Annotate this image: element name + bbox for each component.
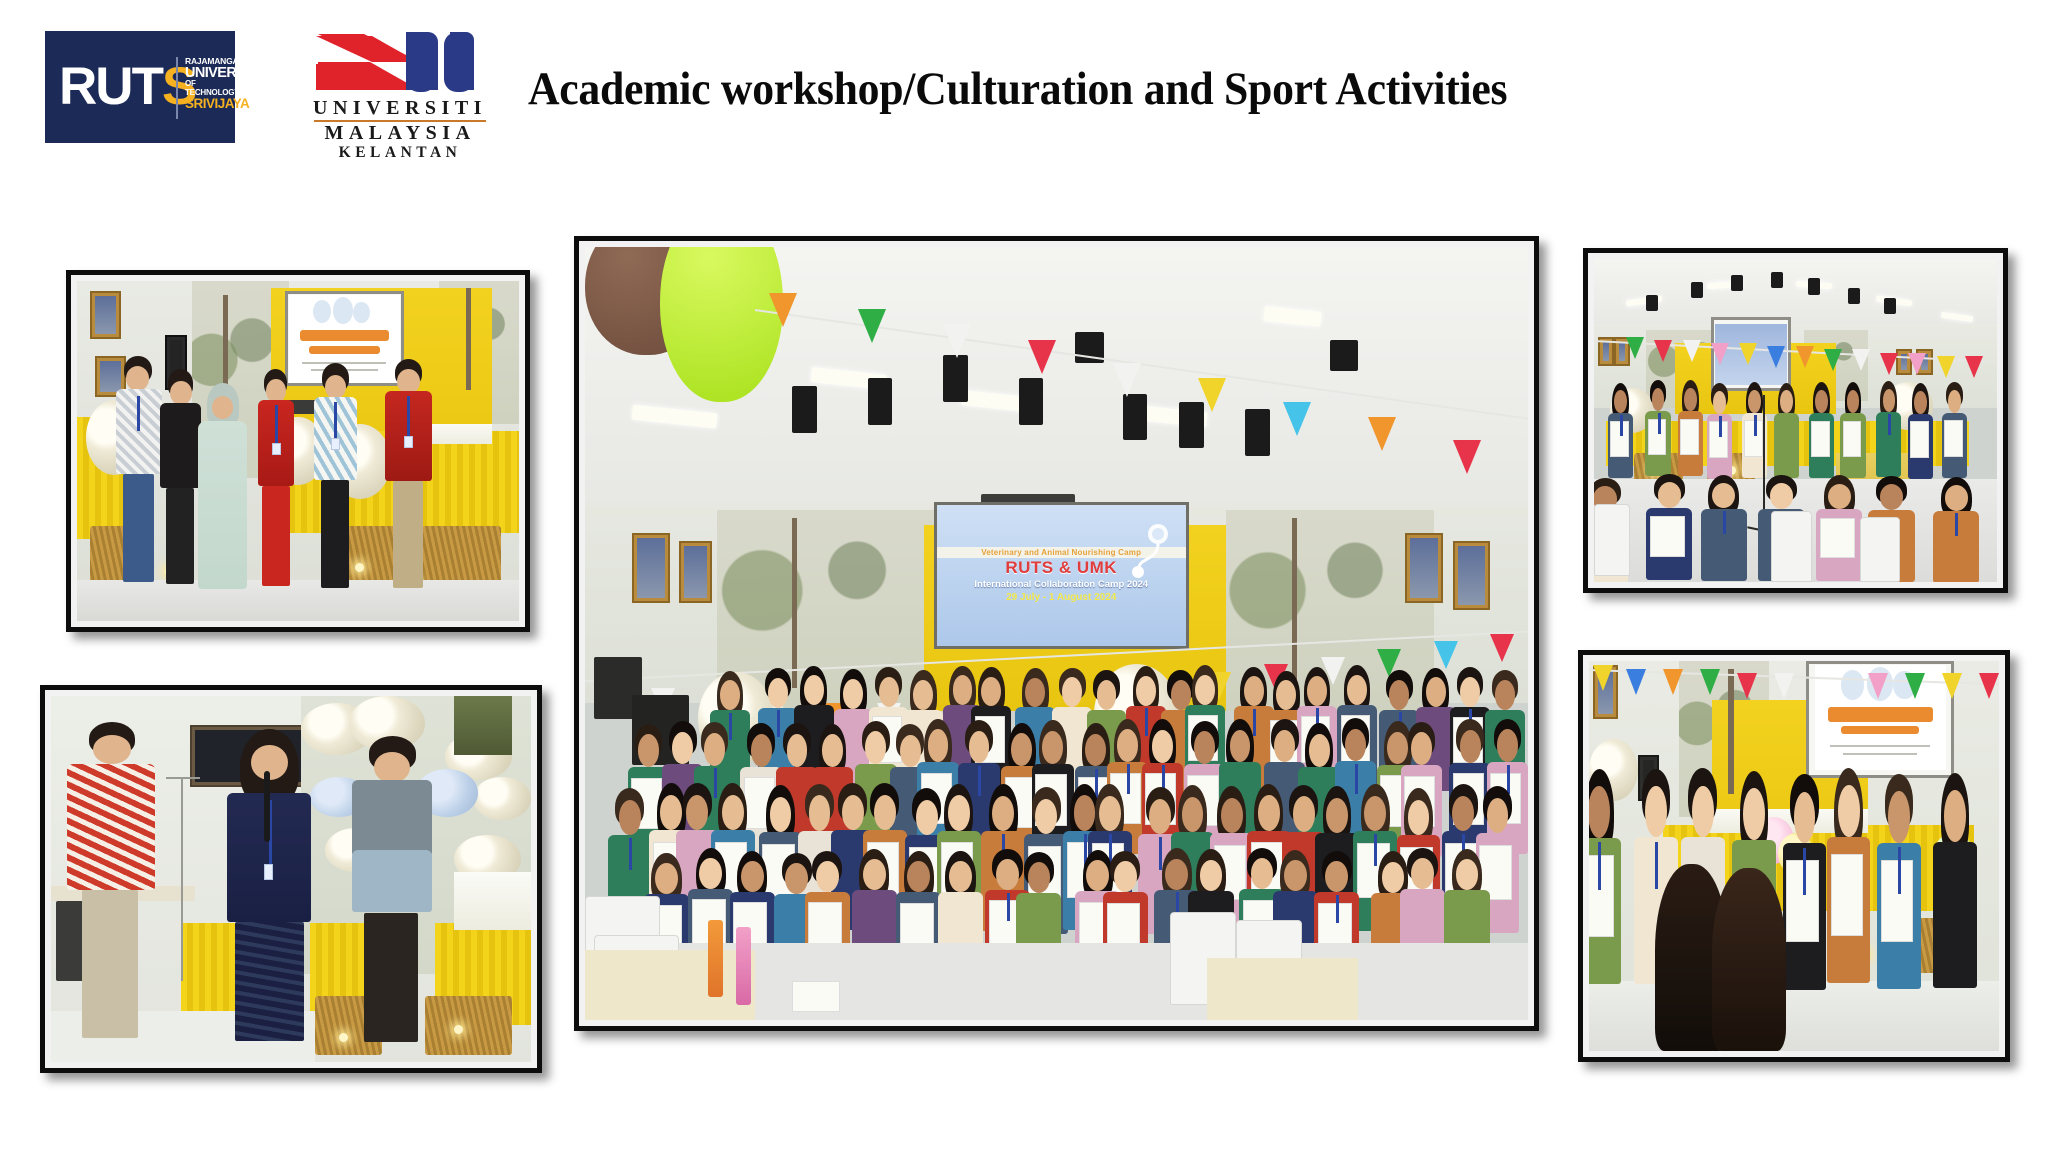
- crowd-head: [1652, 388, 1665, 411]
- crowd-head: [1408, 800, 1430, 835]
- stethoscope-icon: [1125, 522, 1171, 582]
- ruts-letters-ru: RU: [59, 57, 132, 116]
- crowd-head: [865, 731, 886, 763]
- crowd-lanyard: [1955, 513, 1958, 536]
- crowd-head: [1684, 388, 1697, 411]
- crowd-head: [722, 795, 744, 830]
- crowd-head: [1345, 729, 1366, 761]
- certificate-paper: [1831, 854, 1863, 936]
- crowd-head: [804, 675, 824, 705]
- crowd-head: [916, 800, 938, 835]
- banner-line2: RUTS & UMK: [1005, 558, 1117, 578]
- crowd-head: [1097, 680, 1117, 710]
- crowd-head: [1460, 730, 1481, 762]
- crowd-person: [1782, 774, 1827, 989]
- crowd-head: [1062, 677, 1082, 707]
- certificate-paper: [1650, 516, 1685, 556]
- umk-word-line3: KELANTAN: [312, 144, 488, 161]
- crowd-head: [1460, 677, 1480, 707]
- crowd-lanyard: [1007, 893, 1010, 921]
- crowd-person: [1589, 769, 1622, 984]
- crowd-head: [1325, 861, 1348, 892]
- ruts-wordmark: RUTS: [59, 59, 171, 115]
- crowd-head: [928, 729, 949, 761]
- crowd-head: [768, 678, 788, 708]
- certificate-paper: [1820, 518, 1855, 558]
- ruts-logo-divider: [176, 57, 178, 119]
- umk-logo: UNIVERSITI MALAYSIA KELANTAN: [300, 26, 500, 148]
- presentation-slide: RUTS RAJAMANGALA UNIVERSITY OF TECHNOLOG…: [0, 0, 2048, 1153]
- slide-header: RUTS RAJAMANGALA UNIVERSITY OF TECHNOLOG…: [0, 0, 2048, 175]
- crowd-lanyard: [1888, 414, 1891, 435]
- crowd-head: [1888, 791, 1910, 843]
- crowd-head: [1770, 483, 1793, 508]
- crowd-head: [1326, 798, 1348, 833]
- crowd-head: [1389, 680, 1409, 710]
- crowd-head: [619, 800, 641, 835]
- crowd-lanyard: [1658, 413, 1661, 434]
- photo-center-group: Veterinary and Animal Nourishing Camp RU…: [574, 236, 1539, 1031]
- crowd-head: [948, 795, 970, 830]
- crowd-head: [1011, 733, 1032, 765]
- page-title: Academic workshop/Culturation and Sport …: [528, 62, 1507, 116]
- crowd-lanyard: [1898, 847, 1901, 894]
- banner-line3: International Collaboration Camp 2024: [974, 578, 1148, 591]
- photo-bottom-right-image: [1589, 661, 1999, 1051]
- crowd-head: [1743, 788, 1765, 840]
- crowd-head: [1411, 858, 1434, 889]
- photo-bottom-left-image: [51, 696, 531, 1062]
- crowd-head: [655, 863, 678, 894]
- crowd-head: [1284, 860, 1307, 891]
- crowd-head: [1794, 792, 1816, 844]
- ruts-letters-t: T: [132, 57, 162, 116]
- crowd-head: [1293, 796, 1315, 831]
- crowd-lanyard: [1655, 842, 1658, 889]
- ruts-letters: RUTS: [59, 59, 171, 115]
- crowd-head: [1182, 797, 1204, 832]
- crowd-head: [770, 797, 792, 832]
- crowd-head: [1948, 390, 1961, 413]
- crowd-head: [1883, 389, 1896, 412]
- photo-bottom-left: [40, 685, 542, 1073]
- crowd-head: [1658, 482, 1681, 507]
- ruts-sub-line4: SRIVIJAYA: [185, 97, 235, 111]
- photo-center-group-image: Veterinary and Animal Nourishing Camp RU…: [585, 247, 1528, 1020]
- crowd-head: [992, 796, 1014, 831]
- ruts-logo: RUTS RAJAMANGALA UNIVERSITY OF TECHNOLOG…: [45, 31, 235, 143]
- crowd-head: [1347, 675, 1367, 705]
- crowd-head: [1195, 675, 1215, 705]
- crowd-head: [907, 861, 930, 892]
- crowd-person: [1932, 773, 1977, 988]
- crowd-lanyard: [1723, 511, 1726, 534]
- crowd-head: [1136, 676, 1156, 706]
- crowd-head: [969, 731, 990, 763]
- umk-wordmark: UNIVERSITI MALAYSIA KELANTAN: [312, 98, 488, 161]
- photo-top-left: [66, 270, 530, 632]
- crowd-head: [1914, 391, 1927, 414]
- crowd-head: [1780, 390, 1793, 413]
- crowd-lanyard: [1754, 415, 1757, 436]
- crowd-person: [1876, 774, 1921, 989]
- crowd-head: [1274, 730, 1295, 762]
- crowd-head: [842, 795, 864, 830]
- photo-top-left-image: [77, 281, 519, 621]
- crowd-person: [1932, 477, 1980, 582]
- photo-top-right-image: [1594, 259, 1997, 582]
- crowd-person: [1700, 475, 1748, 581]
- crowd-head: [1364, 796, 1386, 831]
- crowd-head: [949, 861, 972, 892]
- crowd-person: [1815, 475, 1863, 581]
- crowd-head: [1042, 731, 1063, 763]
- crowd-head: [1713, 391, 1726, 414]
- crowd-head: [1152, 730, 1173, 762]
- certificate-paper: [1811, 421, 1830, 457]
- crowd-head: [751, 734, 772, 766]
- banner-line4: 29 July - 1 August 2024: [1006, 591, 1116, 604]
- ruts-sub-line2: UNIVERSITY: [185, 66, 235, 81]
- crowd-lanyard: [629, 838, 632, 870]
- crowd-head: [704, 733, 725, 765]
- crowd-head: [1497, 729, 1518, 761]
- umk-symbol-icon: [310, 26, 490, 100]
- crowd-head: [638, 734, 659, 766]
- crowd-head: [1028, 862, 1051, 893]
- crowd-head: [809, 795, 831, 830]
- crowd-body: [1933, 842, 1976, 988]
- crowd-head: [1945, 485, 1968, 510]
- crowd-head: [1614, 390, 1627, 413]
- crowd-head: [1307, 676, 1327, 706]
- crowd-head: [1411, 732, 1432, 764]
- crowd-head: [1194, 731, 1215, 763]
- crowd-head: [1426, 677, 1446, 707]
- crowd-head: [787, 734, 808, 766]
- ruts-subtext: RAJAMANGALA UNIVERSITY OF TECHNOLOGY SRI…: [185, 57, 235, 111]
- crowd-head: [1117, 729, 1138, 761]
- crowd-head: [1692, 786, 1714, 838]
- crowd-head: [879, 677, 899, 707]
- crowd-head: [816, 861, 839, 892]
- ruts-sub-line3: OF TECHNOLOGY: [185, 80, 235, 96]
- crowd-lanyard: [1598, 842, 1601, 889]
- crowd-head: [1035, 799, 1057, 834]
- crowd-head: [1099, 796, 1121, 831]
- certificate-paper: [1680, 419, 1699, 455]
- photo-bottom-right: [1578, 650, 2010, 1062]
- crowd-head: [1251, 858, 1274, 889]
- umk-word-line1: UNIVERSITI: [312, 98, 488, 119]
- crowd-head: [1828, 484, 1851, 509]
- crowd-head: [863, 859, 886, 890]
- crowd-head: [672, 732, 693, 764]
- umk-word-line2: MALAYSIA: [312, 123, 488, 144]
- crowd-head: [1309, 734, 1330, 766]
- photo-top-right: [1583, 248, 2008, 593]
- crowd-head: [1944, 790, 1966, 842]
- crowd-head: [874, 795, 896, 830]
- crowd-head: [1838, 785, 1860, 837]
- crowd-head: [1114, 861, 1137, 892]
- crowd-head: [1452, 796, 1474, 831]
- event-banner: Veterinary and Animal Nourishing Camp RU…: [934, 502, 1189, 649]
- crowd-head: [1165, 859, 1188, 890]
- crowd-person: [1826, 768, 1871, 983]
- crowd-lanyard: [1336, 895, 1339, 923]
- crowd-head: [1200, 860, 1223, 891]
- crowd-head: [1815, 390, 1828, 413]
- crowd-head: [1645, 786, 1667, 838]
- crowd-head: [741, 861, 764, 892]
- crowd-head: [1880, 484, 1903, 509]
- certificate-paper: [1843, 421, 1862, 457]
- crowd-head: [686, 795, 708, 830]
- crowd-lanyard: [1803, 848, 1806, 895]
- crowd-head: [1748, 390, 1761, 413]
- crowd-head: [1149, 799, 1171, 834]
- crowd-person: [1645, 474, 1693, 580]
- crowd-lanyard: [1719, 416, 1722, 437]
- crowd-lanyard: [1620, 415, 1623, 436]
- certificate-paper: [1944, 420, 1963, 456]
- crowd-head: [1221, 798, 1243, 833]
- crowd-head: [1495, 680, 1515, 710]
- crowd-head: [1258, 795, 1280, 830]
- crowd-head: [822, 734, 843, 766]
- crowd-head: [699, 858, 722, 889]
- crowd-head: [1487, 798, 1509, 833]
- crowd-head: [1244, 676, 1264, 706]
